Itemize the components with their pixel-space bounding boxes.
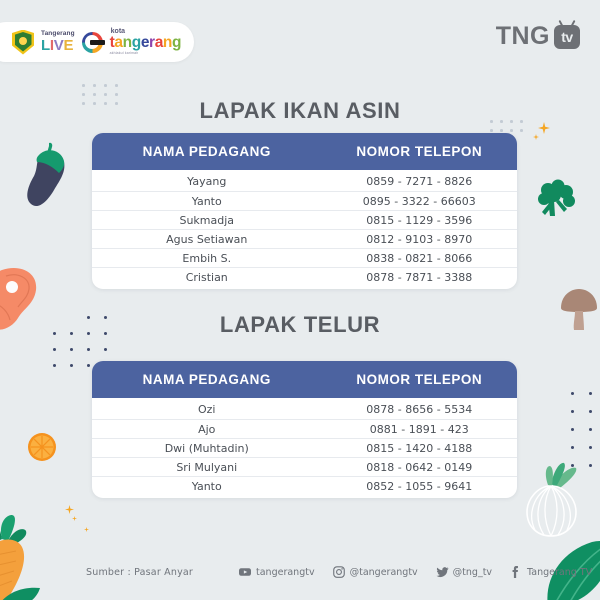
table-lapak-ikan-asin: NAMA PEDAGANG NOMOR TELEPON Yayang 0859 …: [92, 133, 517, 289]
green-leaf-small-illustration: [0, 586, 42, 600]
table-row: Embih S. 0838 - 0821 - 8066: [92, 248, 517, 267]
kota-tangerang-logo: kota tangerang akhlakul karimah: [110, 28, 181, 56]
column-header-nomor-telepon: NOMOR TELEPON: [322, 144, 518, 159]
column-header-nama-pedagang: NAMA PEDAGANG: [92, 144, 322, 159]
cell-nama: Dwi (Muhtadin): [92, 442, 322, 455]
kota-tagline: akhlakul karimah: [110, 52, 181, 55]
cell-telepon: 0818 - 0642 - 0149: [322, 461, 518, 474]
column-header-nama-pedagang: NAMA PEDAGANG: [92, 372, 322, 387]
table-row: Dwi (Muhtadin) 0815 - 1420 - 4188: [92, 438, 517, 457]
social-facebook[interactable]: Tangerang TV: [510, 566, 592, 578]
table-row: Cristian 0878 - 7871 - 3388: [92, 267, 517, 286]
broccoli-illustration: [534, 178, 580, 224]
onion-illustration: [522, 458, 582, 540]
cell-telepon: 0815 - 1420 - 4188: [322, 442, 518, 455]
social-handle: tangerangtv: [256, 567, 315, 578]
kota-tangerang-wordmark: tangerang: [110, 35, 181, 51]
partner-logo-bar: Tangerang LIVE kota tangerang akhlakul k…: [0, 22, 194, 62]
sparkle-icon: [65, 505, 74, 514]
social-youtube[interactable]: tangerangtv: [239, 566, 315, 578]
social-handle: @tangerangtv: [350, 567, 418, 578]
cell-nama: Sri Mulyani: [92, 461, 322, 474]
cell-telepon: 0815 - 1129 - 3596: [322, 214, 518, 227]
sparkle-icon: [84, 527, 89, 532]
social-handle: @tng_tv: [453, 567, 492, 578]
cell-telepon: 0878 - 8656 - 5534: [322, 403, 518, 416]
twitter-icon: [436, 566, 448, 578]
table-row: Sukmadja 0815 - 1129 - 3596: [92, 210, 517, 229]
cell-telepon: 0878 - 7871 - 3388: [322, 271, 518, 284]
cell-telepon: 0859 - 7271 - 8826: [322, 175, 518, 188]
tv-badge-label: tv: [561, 30, 572, 44]
cell-nama: Yanto: [92, 480, 322, 493]
tv-badge-icon: tv: [554, 25, 580, 49]
table-row: Yanto 0895 - 3322 - 66603: [92, 191, 517, 210]
table-row: Ozi 0878 - 8656 - 5534: [92, 400, 517, 419]
social-links: tangerangtv @tangerangtv @tng_tv Tangera…: [239, 566, 592, 578]
table-header-row: NAMA PEDAGANG NOMOR TELEPON: [92, 133, 517, 170]
facebook-icon: [510, 566, 522, 578]
cell-nama: Sukmadja: [92, 214, 322, 227]
tangerang-city-crest-icon: [12, 30, 34, 55]
cell-nama: Ajo: [92, 423, 322, 436]
poster-canvas: Tangerang LIVE kota tangerang akhlakul k…: [0, 0, 600, 600]
sparkle-icon: [533, 134, 539, 140]
section-title-lapak-ikan-asin: LAPAK IKAN ASIN: [0, 98, 600, 124]
cell-nama: Embih S.: [92, 252, 322, 265]
social-twitter[interactable]: @tng_tv: [436, 566, 492, 578]
table-row: Yanto 0852 - 1055 - 9641: [92, 476, 517, 495]
cell-telepon: 0852 - 1055 - 9641: [322, 480, 518, 493]
table-body: Yayang 0859 - 7271 - 8826 Yanto 0895 - 3…: [92, 170, 517, 289]
table-row: Agus Setiawan 0812 - 9103 - 8970: [92, 229, 517, 248]
cell-telepon: 0812 - 9103 - 8970: [322, 233, 518, 246]
cell-nama: Agus Setiawan: [92, 233, 322, 246]
tangerang-live-logo: Tangerang LIVE: [41, 31, 75, 53]
table-row: Ajo 0881 - 1891 - 423: [92, 419, 517, 438]
table-header-row: NAMA PEDAGANG NOMOR TELEPON: [92, 361, 517, 398]
cell-nama: Yanto: [92, 195, 322, 208]
eggplant-illustration: [18, 140, 74, 216]
carrot-illustration: [0, 513, 46, 600]
instagram-icon: [333, 566, 345, 578]
sparkle-icon: [72, 516, 77, 521]
social-instagram[interactable]: @tangerangtv: [333, 566, 418, 578]
tng-tv-brand: TNG tv: [496, 22, 580, 51]
cell-nama: Yayang: [92, 175, 322, 188]
social-handle: Tangerang TV: [527, 567, 592, 578]
section-title-lapak-telur: LAPAK TELUR: [0, 312, 600, 338]
column-header-nomor-telepon: NOMOR TELEPON: [322, 372, 518, 387]
dot-grid-right: [571, 392, 593, 482]
table-row: Yayang 0859 - 7271 - 8826: [92, 172, 517, 191]
table-row: Sri Mulyani 0818 - 0642 - 0149: [92, 457, 517, 476]
bulat-logo-icon: [82, 32, 103, 53]
footer: Sumber : Pasar Anyar tangerangtv @tanger…: [0, 566, 600, 578]
cell-nama: Cristian: [92, 271, 322, 284]
orange-slice-illustration: [27, 432, 57, 462]
cell-telepon: 0895 - 3322 - 66603: [322, 195, 518, 208]
cell-nama: Ozi: [92, 403, 322, 416]
youtube-icon: [239, 566, 251, 578]
table-lapak-telur: NAMA PEDAGANG NOMOR TELEPON Ozi 0878 - 8…: [92, 361, 517, 498]
cell-telepon: 0881 - 1891 - 423: [322, 423, 518, 436]
tng-tv-name: TNG: [496, 22, 550, 51]
cell-telepon: 0838 - 0821 - 8066: [322, 252, 518, 265]
source-label: Sumber : Pasar Anyar: [86, 567, 193, 578]
table-body: Ozi 0878 - 8656 - 5534 Ajo 0881 - 1891 -…: [92, 398, 517, 498]
tangerang-live-wordmark: LIVE: [41, 38, 75, 53]
